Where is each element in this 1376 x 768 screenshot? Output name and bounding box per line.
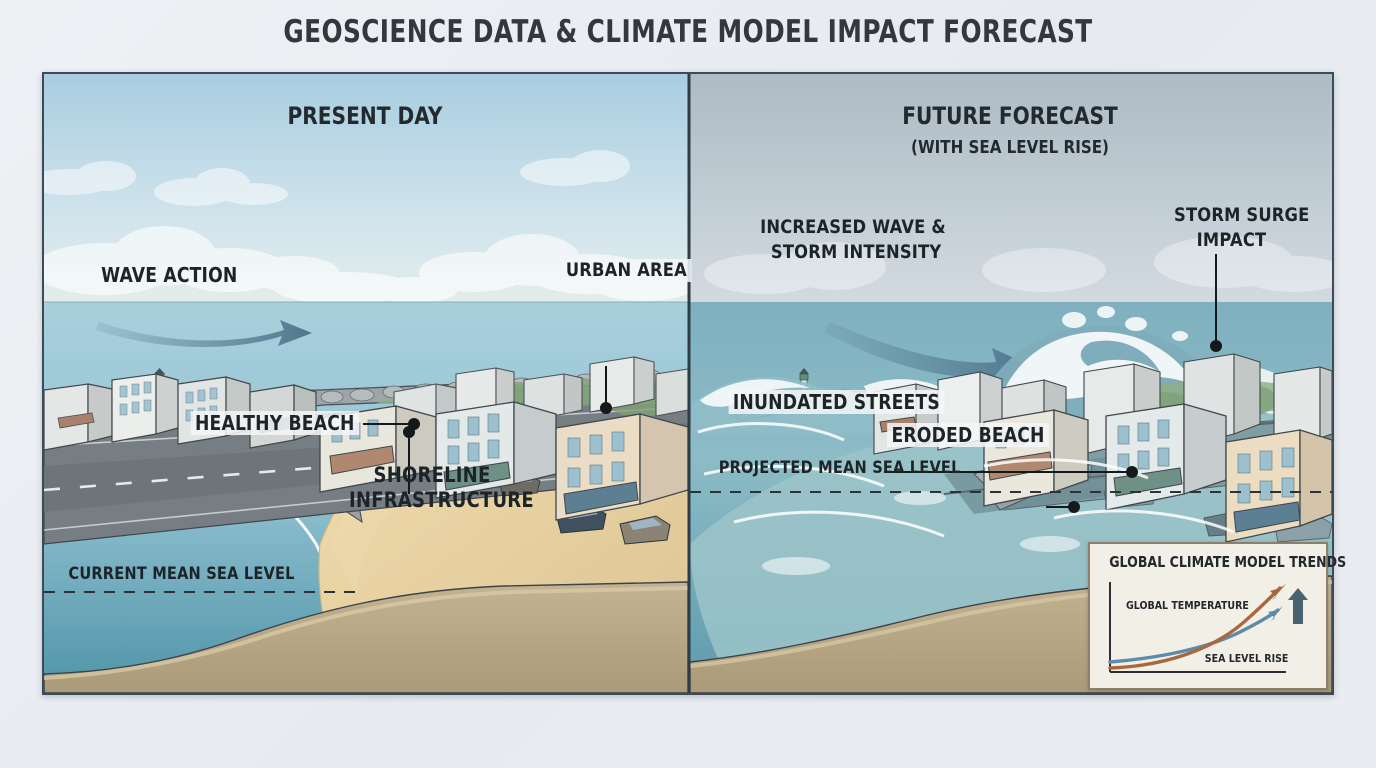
label-wave-action: WAVE ACTION	[101, 264, 237, 286]
label-shoreline-infrastructure-line2: INFRASTRUCTURE	[349, 489, 534, 513]
label-increased-wave-line1: INCREASED WAVE &	[760, 217, 946, 238]
page-title: GEOSCIENCE DATA & CLIMATE MODEL IMPACT F…	[138, 14, 1239, 50]
present-day-heading: PRESENT DAY	[205, 102, 524, 130]
infographic-canvas: GEOSCIENCE DATA & CLIMATE MODEL IMPACT F…	[0, 0, 1376, 768]
inset-chart-plot	[1090, 544, 1326, 688]
inset-label-sea-level-rise: SEA LEVEL RISE	[1205, 652, 1289, 665]
label-storm-surge-line1: STORM SURGE	[1174, 205, 1309, 226]
label-urban-area: URBAN AREA	[562, 259, 692, 282]
label-storm-surge-line2: IMPACT	[1197, 230, 1267, 251]
label-healthy-beach: HEALTHY BEACH	[191, 411, 359, 435]
label-inundated-streets: INUNDATED STREETS	[729, 390, 945, 414]
up-arrow-icon	[1288, 588, 1308, 624]
label-eroded-beach: ERODED BEACH	[887, 423, 1049, 447]
future-forecast-heading: FUTURE FORECAST	[850, 102, 1169, 130]
future-forecast-subheading: (WITH SEA LEVEL RISE)	[850, 137, 1169, 158]
label-projected-mean-sea-level: PROJECTED MEAN SEA LEVEL	[719, 459, 961, 478]
inset-label-global-temperature: GLOBAL TEMPERATURE	[1126, 599, 1249, 612]
label-shoreline-infrastructure-line1: SHORELINE	[374, 464, 491, 488]
global-climate-model-trends-chart: GLOBAL CLIMATE MODEL TRENDS GLOBAL TEMPE…	[1088, 542, 1328, 690]
label-increased-wave-line2: STORM INTENSITY	[771, 242, 941, 263]
label-current-mean-sea-level: CURRENT MEAN SEA LEVEL	[68, 565, 294, 584]
series-sea-level-rise-arrowhead	[1268, 606, 1283, 621]
